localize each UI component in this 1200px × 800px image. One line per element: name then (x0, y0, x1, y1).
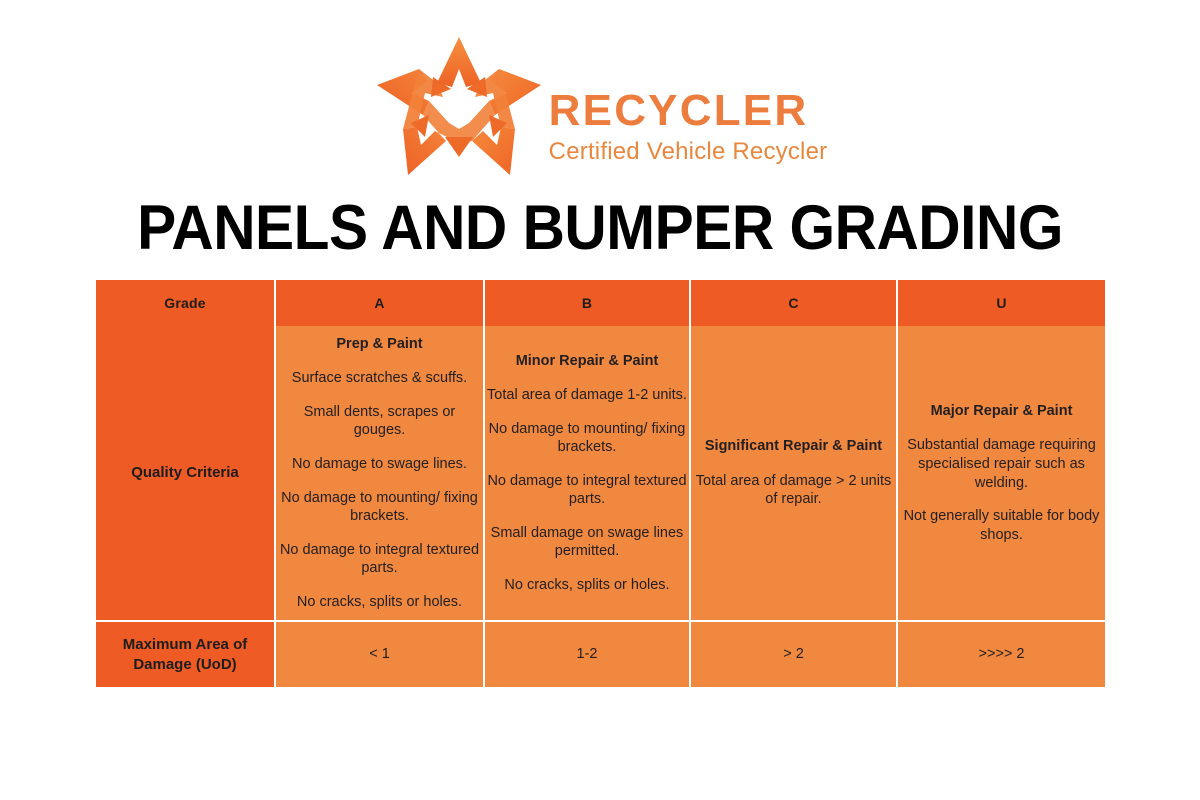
header-grade-a: A (276, 280, 485, 326)
cell-line: No damage to swage lines. (276, 455, 483, 474)
table-row-quality-criteria: Quality Criteria Prep & Paint Surface sc… (96, 326, 1105, 622)
cell-uod-u: >>>> 2 (898, 622, 1105, 687)
header-grade-u: U (898, 280, 1105, 326)
cell-line: Substantial damage requiring specialised… (898, 436, 1105, 492)
cell-quality-criteria-u: Major Repair & Paint Substantial damage … (898, 326, 1105, 622)
page-title: PANELS AND BUMPER GRADING (42, 192, 1158, 264)
cell-uod-a: < 1 (276, 622, 485, 687)
logo-wordmark: RECYCLER Certified Vehicle Recycler (549, 44, 828, 167)
cell-line: No cracks, splits or holes. (485, 576, 689, 595)
cell-line: No damage to integral textured parts. (276, 541, 483, 578)
row-label-maximum-area-of-damage: Maximum Area of Damage (UoD) (96, 622, 276, 687)
cell-heading: Minor Repair & Paint (485, 352, 689, 371)
panels-bumper-grading-table: Grade A B C U Quality Criteria Prep & Pa… (96, 280, 1105, 687)
header-grade: Grade (96, 280, 276, 326)
cell-uod-c: > 2 (691, 622, 898, 687)
cell-heading: Significant Repair & Paint (691, 437, 896, 456)
cell-line: Surface scratches & scuffs. (276, 369, 483, 388)
cell-line: No damage to mounting/ fixing brackets. (276, 489, 483, 526)
cell-heading: Major Repair & Paint (898, 402, 1105, 421)
logo-title: RECYCLER (549, 88, 828, 134)
cell-line: Total area of damage 1-2 units. (485, 386, 689, 405)
recycling-star-icon (373, 31, 545, 181)
cell-quality-criteria-b: Minor Repair & Paint Total area of damag… (485, 326, 691, 622)
cell-line: Not generally suitable for body shops. (898, 507, 1105, 544)
cell-line: Small damage on swage lines permitted. (485, 524, 689, 561)
cell-quality-criteria-a: Prep & Paint Surface scratches & scuffs.… (276, 326, 485, 622)
cell-uod-b: 1-2 (485, 622, 691, 687)
cell-line: Small dents, scrapes or gouges. (276, 403, 483, 440)
cell-line: Total area of damage > 2 units of repair… (691, 472, 896, 509)
cell-line: No cracks, splits or holes. (276, 593, 483, 612)
cell-line: No damage to mounting/ fixing brackets. (485, 420, 689, 457)
page-root: { "logo": { "mark_icon": "recycling-star… (0, 0, 1200, 800)
table-header-row: Grade A B C U (96, 280, 1105, 326)
cell-line: No damage to integral textured parts. (485, 472, 689, 509)
brand-logo: RECYCLER Certified Vehicle Recycler (0, 28, 1200, 183)
logo-tagline: Certified Vehicle Recycler (549, 137, 828, 167)
header-grade-c: C (691, 280, 898, 326)
row-label-quality-criteria: Quality Criteria (96, 326, 276, 622)
cell-heading: Prep & Paint (276, 335, 483, 354)
cell-quality-criteria-c: Significant Repair & Paint Total area of… (691, 326, 898, 622)
table-row-maximum-area-of-damage: Maximum Area of Damage (UoD) < 1 1-2 > 2… (96, 622, 1105, 687)
header-grade-b: B (485, 280, 691, 326)
logo-inner: RECYCLER Certified Vehicle Recycler (373, 31, 828, 181)
